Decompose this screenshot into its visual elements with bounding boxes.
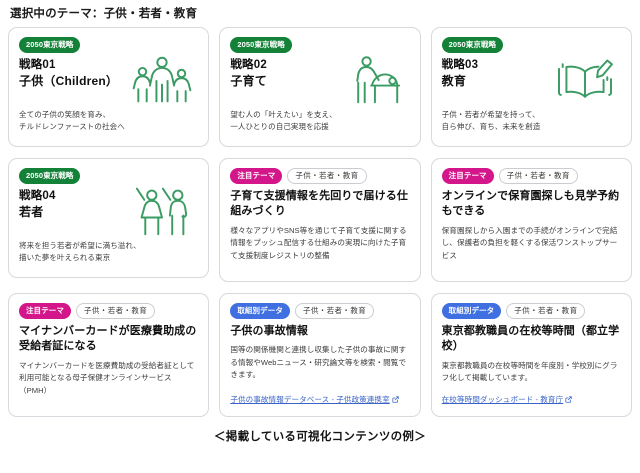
theme-badge: 子供・若者・教育 [287, 168, 366, 184]
youth-icon [129, 185, 195, 237]
strategy-description: 望む人の「叶えたい」を支え、 一人ひとりの自己実現を応援 [230, 109, 409, 133]
featured-badge: 注目テーマ [442, 168, 494, 184]
strategy-card-04[interactable]: 2050東京戦略 戦略04 若者 将来を担う若者が希望に満ち溢れ、 描いた夢 [8, 158, 209, 278]
badge-row: 2050東京戦略 [230, 37, 409, 53]
strategy-card-02[interactable]: 2050東京戦略 戦略02 子育て 望む人の「叶えたい」を支え、 一人ひとり [219, 27, 420, 147]
strategy-badge: 2050東京戦略 [442, 37, 503, 53]
family-icon [129, 54, 195, 106]
strategy-description: 全ての子供の笑顔を育み、 チルドレンファーストの社会へ [19, 109, 198, 133]
strategy-card-03[interactable]: 2050東京戦略 戦略03 教育 子供・若者が希望を持って、 自ら伸び、育ち、未… [431, 27, 632, 147]
featured-badge: 注目テーマ [19, 303, 71, 319]
badge-row: 取組別データ 子供・若者・教育 [230, 303, 409, 319]
card-body: 国等の関係機関と連携し収集した子供の事故に関する情報やWebニュース・研究論文等… [230, 344, 409, 382]
strategy-desc-line2: 一人ひとりの自己実現を応援 [230, 121, 409, 133]
external-link-label: 子供の事故情報データベース - 子供政策連携室 [230, 394, 389, 405]
strategy-description: 子供・若者が希望を持って、 自ら伸び、育ち、未来を創造 [442, 109, 621, 133]
strategy-desc-line1: 子供・若者が希望を持って、 [442, 109, 621, 121]
book-pencil-icon [552, 54, 618, 106]
badge-row: 2050東京戦略 [19, 168, 198, 184]
strategy-desc-line2: 自ら伸び、育ち、未来を創造 [442, 121, 621, 133]
badge-row: 2050東京戦略 [19, 37, 198, 53]
strategy-badge: 2050東京戦略 [19, 168, 80, 184]
external-link[interactable]: 在校等時間ダッシュボード - 教育庁 [442, 394, 573, 405]
strategy-desc-line2: チルドレンファーストの社会へ [19, 121, 198, 133]
data-badge: 取組別データ [230, 303, 290, 319]
figure-caption: ＜掲載している可視化コンテンツの例＞ [8, 428, 632, 444]
card-heading: 東京都教職員の在校等時間（都立学校） [442, 324, 621, 355]
featured-badge: 注目テーマ [230, 168, 282, 184]
card-body: 東京都教職員の在校等時間を年度別・学校別にグラフ化して掲載しています。 [442, 360, 621, 385]
strategy-badge: 2050東京戦略 [19, 37, 80, 53]
card-heading: マイナンバーカードが医療費助成の受給者証になる [19, 324, 198, 355]
strategy-badge: 2050東京戦略 [230, 37, 291, 53]
page-root: 選択中のテーマ：子供・若者・教育 2050東京戦略 戦略01 子供（Childr… [0, 0, 640, 473]
card-body: 様々なアプリやSNS等を通じて子育て支援に関する情報をプッシュ配信する仕組みの実… [230, 225, 409, 263]
card-body: 保育園探しから入園までの手続がオンラインで完結し、保護者の負担を軽くする保活ワン… [442, 225, 621, 263]
external-link-icon [565, 396, 572, 403]
badge-row: 注目テーマ 子供・若者・教育 [442, 168, 621, 184]
data-card-1[interactable]: 取組別データ 子供・若者・教育 子供の事故情報 国等の関係機関と連携し収集した子… [219, 293, 420, 417]
card-grid: 2050東京戦略 戦略01 子供（Children） 全ての子供の笑顔 [8, 27, 632, 417]
theme-badge: 子供・若者・教育 [76, 303, 155, 319]
data-card-2[interactable]: 取組別データ 子供・若者・教育 東京都教職員の在校等時間（都立学校） 東京都教職… [431, 293, 632, 417]
featured-card-3[interactable]: 注目テーマ 子供・若者・教育 マイナンバーカードが医療費助成の受給者証になる マ… [8, 293, 209, 417]
card-heading: 子育て支援情報を先回りで届ける仕組みづくり [230, 189, 409, 220]
strategy-desc-line1: 全ての子供の笑顔を育み、 [19, 109, 198, 121]
strategy-desc-line1: 望む人の「叶えたい」を支え、 [230, 109, 409, 121]
featured-card-2[interactable]: 注目テーマ 子供・若者・教育 オンラインで保育園探しも見学予約もできる 保育園探… [431, 158, 632, 282]
badge-row: 注目テーマ 子供・若者・教育 [230, 168, 409, 184]
card-heading: オンラインで保育園探しも見学予約もできる [442, 189, 621, 220]
theme-badge: 子供・若者・教育 [295, 303, 374, 319]
card-body: マイナンバーカードを医療費助成の受給者証として利用可能となる母子保健オンラインサ… [19, 360, 198, 398]
card-heading: 子供の事故情報 [230, 324, 409, 340]
childcare-icon [341, 54, 407, 106]
strategy-card-01[interactable]: 2050東京戦略 戦略01 子供（Children） 全ての子供の笑顔 [8, 27, 209, 147]
data-badge: 取組別データ [442, 303, 502, 319]
strategy-desc-line2: 描いた夢を叶えられる東京 [19, 252, 198, 264]
strategy-description: 将来を担う若者が希望に満ち溢れ、 描いた夢を叶えられる東京 [19, 240, 198, 264]
strategy-desc-line1: 将来を担う若者が希望に満ち溢れ、 [19, 240, 198, 252]
badge-row: 注目テーマ 子供・若者・教育 [19, 303, 198, 319]
badge-row: 取組別データ 子供・若者・教育 [442, 303, 621, 319]
external-link-label: 在校等時間ダッシュボード - 教育庁 [442, 394, 564, 405]
page-title: 選択中のテーマ：子供・若者・教育 [10, 7, 632, 21]
theme-badge: 子供・若者・教育 [506, 303, 585, 319]
external-link[interactable]: 子供の事故情報データベース - 子供政策連携室 [230, 394, 398, 405]
featured-card-1[interactable]: 注目テーマ 子供・若者・教育 子育て支援情報を先回りで届ける仕組みづくり 様々な… [219, 158, 420, 282]
badge-row: 2050東京戦略 [442, 37, 621, 53]
external-link-icon [392, 396, 399, 403]
theme-badge: 子供・若者・教育 [499, 168, 578, 184]
